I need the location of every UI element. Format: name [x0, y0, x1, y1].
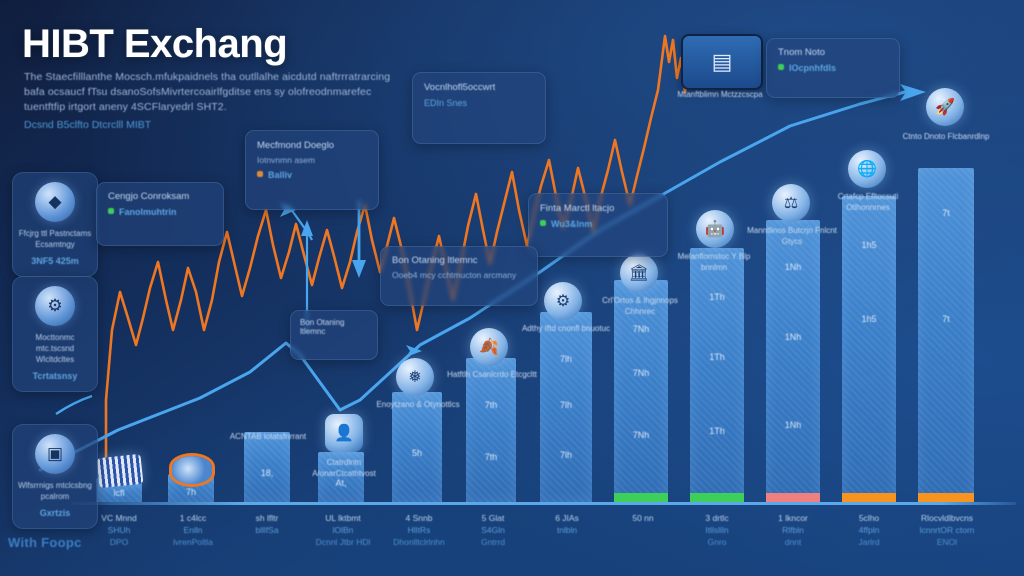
tile-team-monitor-label: Mtanftblimn Mctzzcscpa — [672, 90, 768, 101]
chart-baseline — [72, 502, 1016, 505]
page-title: HIBT Exchang — [22, 22, 287, 67]
card-change-base[interactable]: Bon Otaning ltlemnc — [290, 310, 378, 360]
annotation-curve — [56, 396, 92, 414]
bar-title: Hatftlh Csanlcrdo Etcgcltt — [446, 370, 538, 381]
card-merchant-dongle[interactable]: Mecfmond Doeglo Iotnvnmn asem Balliv — [245, 130, 379, 210]
x-axis-label: Rlocvldlbvcns lcnnrtOR ctorn ENOl — [899, 512, 995, 548]
bar-footer-amber — [842, 493, 896, 502]
bar-footer-salmon — [766, 493, 820, 502]
chart-bar[interactable]: 1h5 1h5 — [842, 196, 896, 502]
monitor-team-icon: ▤ — [712, 49, 733, 75]
leaf-health-icon[interactable]: 🍂 — [470, 328, 508, 366]
bar-title: Manntlinos Butcrjn Fnlcnt Gtycs — [746, 226, 838, 247]
bar-title: Crtafcp Efltocsuti Otlhonnrnes — [822, 192, 914, 213]
card-bar-opening[interactable]: Bon Otaning ltlemnc Ooeb4 mcy cchtmucton… — [380, 246, 538, 306]
status-dot — [257, 171, 263, 177]
tile-label: Wlfsrrnigs mtclcsbng pcalrom — [17, 480, 93, 502]
card-crypto-conversion[interactable]: Cengjo Conroksam Fanolmuhtrin — [96, 182, 224, 246]
status-dot — [540, 220, 546, 226]
annotation-arrowhead-icon — [301, 220, 313, 236]
diamond-icon: ◆ — [35, 182, 75, 222]
tile-wallet-portal[interactable]: ▣ Wlfsrrnigs mtclcsbng pcalrom Gxrtzis — [12, 424, 98, 529]
chart-bar[interactable]: 1Nh 1Nh 1Nh — [766, 220, 820, 502]
bar-title: Crl'Ortos & Ihgjnnops Chhnrec — [594, 296, 686, 317]
tile-value: Tcrtatsnsy — [17, 371, 93, 381]
ring-target-icon[interactable] — [172, 456, 212, 484]
chart-bar[interactable]: 18, — [244, 432, 290, 502]
bar-title: ACNTAB lotatsfnrrant — [222, 432, 314, 443]
rocket-badge-icon[interactable]: 🚀 — [926, 88, 964, 126]
page-subtitle: The Staecfilllanthe Mocsch.mfukpaidnels … — [24, 70, 404, 115]
trend-arrow-icon — [900, 84, 926, 101]
gear-badge-icon[interactable]: ⚙ — [544, 282, 582, 320]
annotation-arrowhead-icon — [352, 260, 366, 278]
bar-title: Ctatrdlntn A/onarCtcathtvost — [298, 458, 390, 479]
vault-jar-icon[interactable]: 🏛 — [620, 254, 658, 292]
status-dot — [778, 64, 784, 70]
bar-footer-green — [614, 493, 668, 502]
trend-marker-icon — [406, 345, 422, 357]
card-stack-icon[interactable] — [97, 454, 144, 488]
tile-value: 3NF5 425m — [17, 256, 93, 266]
robot-face-icon[interactable]: 🤖 — [696, 210, 734, 248]
infographic-canvas: HIBT Exchang The Staecfilllanthe Mocsch.… — [0, 0, 1024, 576]
bar-title: Melanflomstoc Y Blp bnnlmn — [668, 252, 760, 273]
tile-label: Ffcjrg ttl Pastnctams Ecsamtngy — [17, 228, 93, 250]
card-team-note[interactable]: Tnom Noto IOcpnhfdls — [766, 38, 900, 98]
card-workload-account[interactable]: Vocnlhofl5occwrt EDIn Snes — [412, 72, 546, 144]
tile-label: Mocttonmc mtc.tscsnd Wlcltdcltes — [17, 332, 93, 365]
balance-scale-icon[interactable]: ⚖ — [772, 184, 810, 222]
tile-monitoring[interactable]: ⚙ Mocttonmc mtc.tscsnd Wlcltdcltes Tcrta… — [12, 276, 98, 392]
card-market-linkage[interactable]: Finta Marctl ltacjo Wu3&lnm — [528, 193, 668, 257]
gear-icon: ⚙ — [35, 286, 75, 326]
bar-title: Enoytzano & Otynottlcs — [372, 400, 464, 411]
globe-badge-icon[interactable]: 🌐 — [848, 150, 886, 188]
page-subnote: Dcsnd B5clfto Dtcrclll MIBT — [24, 119, 151, 131]
bar-footer-amber — [918, 493, 974, 502]
annotation-curve — [288, 205, 312, 240]
chart-bar[interactable]: 7lh 7lh 7lh — [540, 312, 592, 502]
tile-value: Gxrtzis — [17, 508, 93, 518]
shield-user-icon[interactable]: 👤 — [325, 414, 363, 452]
bar-title: Adthy Iftd cnonfl bnuotuc — [520, 324, 612, 335]
lotus-flower-icon[interactable]: ❅ — [396, 358, 434, 396]
bar-title: Ctnto Dnoto Flcbanrdlnp — [900, 132, 992, 143]
tile-team-monitor[interactable]: ▤ — [681, 34, 763, 90]
chart-bar[interactable]: 7t 7t — [918, 168, 974, 502]
chart-bar[interactable]: 1Th 1Th 1Th — [690, 248, 744, 502]
status-dot — [108, 208, 114, 214]
tile-diamond-exchange[interactable]: ◆ Ffcjrg ttl Pastnctams Ecsamtngy 3NF5 4… — [12, 172, 98, 277]
wallet-icon: ▣ — [35, 434, 75, 474]
bar-footer-green — [690, 493, 744, 502]
